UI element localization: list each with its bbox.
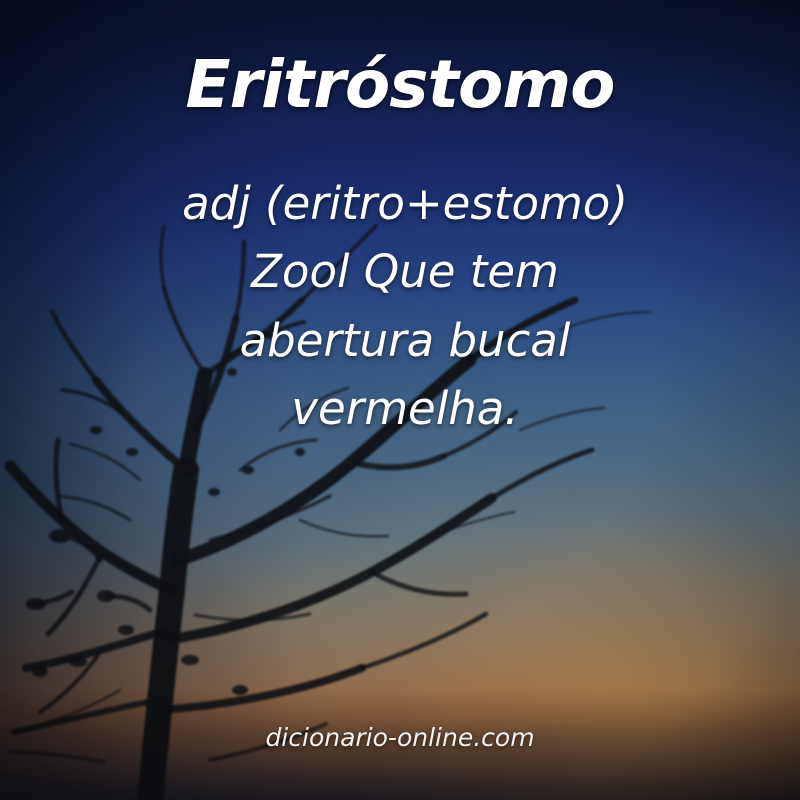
definition-line-2: Zool Que tem <box>120 238 690 306</box>
site-watermark: dicionario-online.com <box>0 723 800 752</box>
headword-title: Eritróstomo <box>0 46 800 123</box>
text-overlay: Eritróstomo adj (eritro+estomo) Zool Que… <box>0 0 800 800</box>
definition-text: adj (eritro+estomo) Zool Que tem abertur… <box>120 170 690 444</box>
definition-line-4: vermelha. <box>120 375 690 443</box>
definition-line-3: abertura bucal <box>120 307 690 375</box>
dictionary-image-card: Eritróstomo adj (eritro+estomo) Zool Que… <box>0 0 800 800</box>
definition-line-1: adj (eritro+estomo) <box>120 170 690 238</box>
